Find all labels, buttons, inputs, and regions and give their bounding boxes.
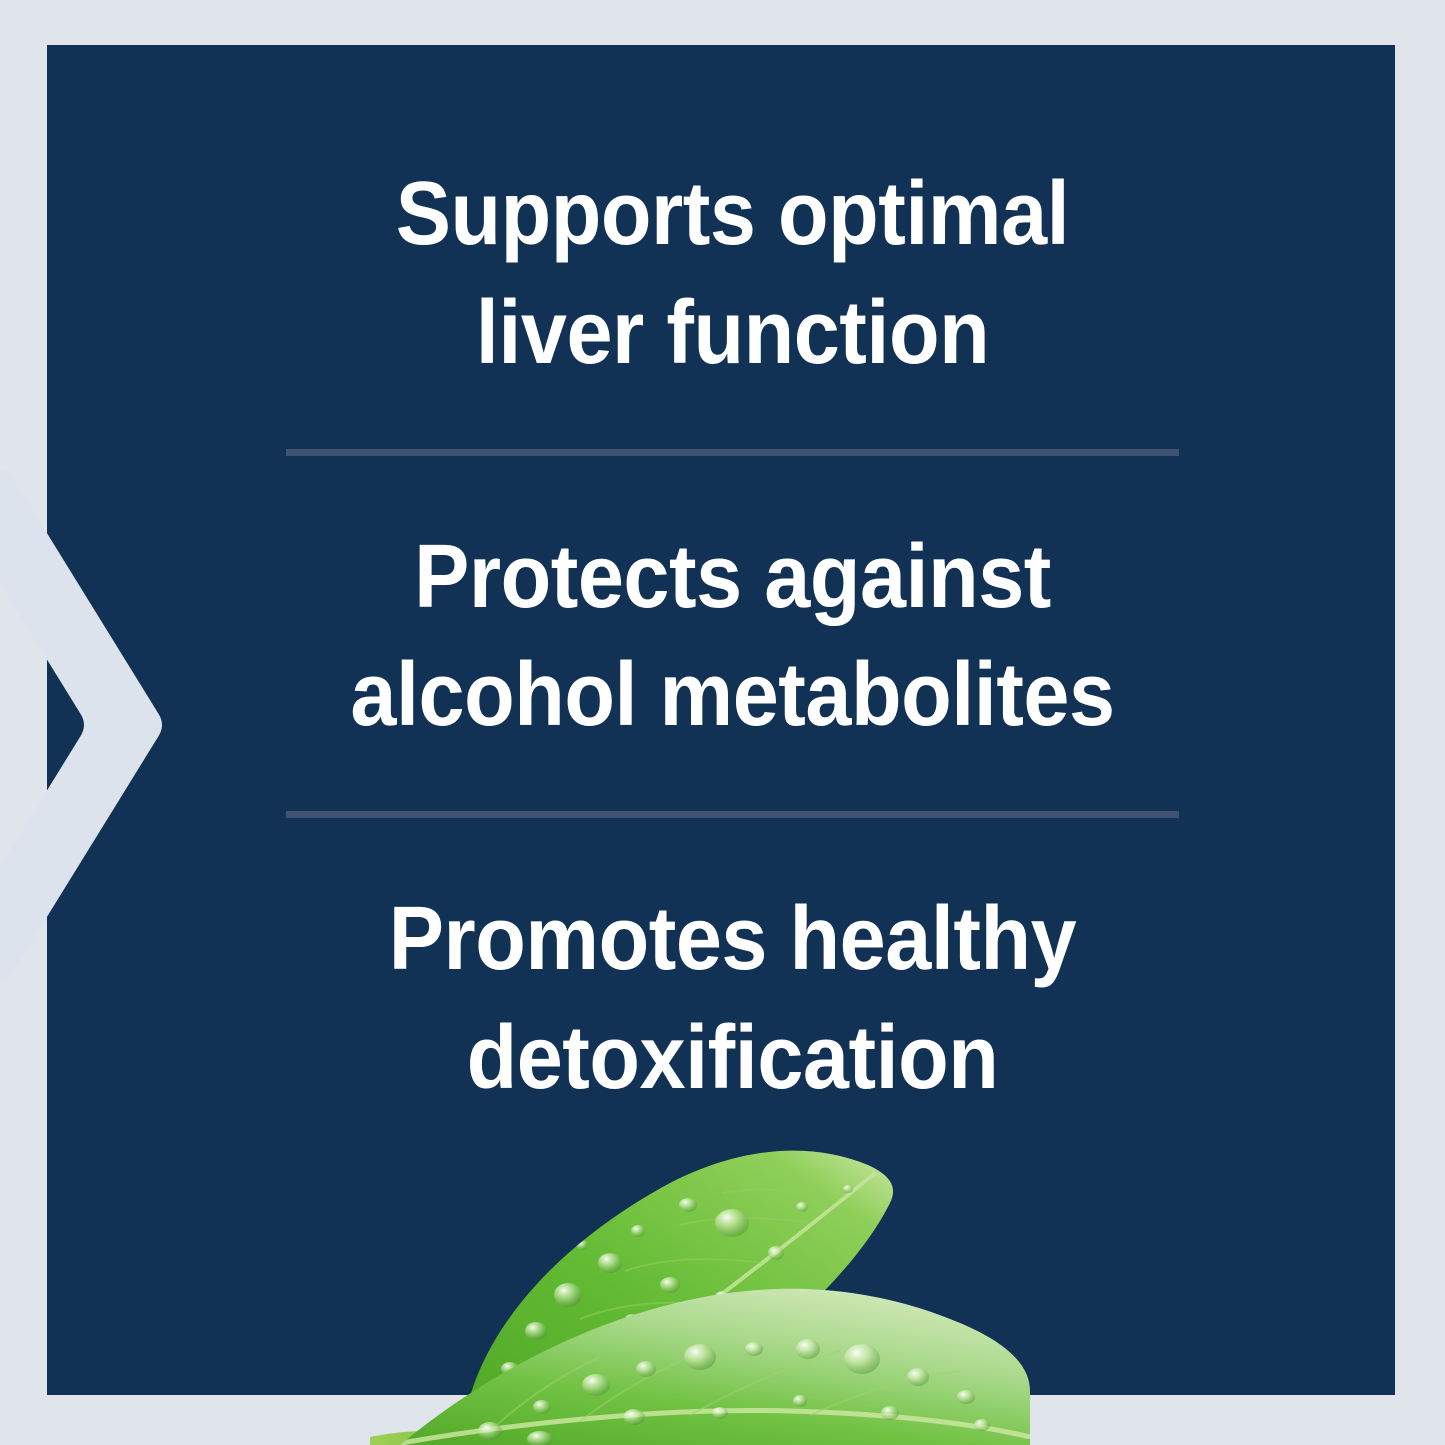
benefit-divider-2 — [286, 811, 1179, 818]
benefit-text-liver-function: Supports optimal liver function — [321, 155, 1144, 393]
poster-canvas: Supports optimal liver function Protects… — [0, 0, 1445, 1445]
benefit-item-alcohol-metabolites: Protects against alcohol metabolites — [285, 518, 1180, 756]
benefit-text-alcohol-metabolites: Protects against alcohol metabolites — [321, 518, 1144, 756]
spacer-1 — [285, 393, 1180, 449]
spacer-3 — [285, 755, 1180, 811]
benefit-item-liver-function: Supports optimal liver function — [285, 155, 1180, 393]
leaf-stem — [370, 1431, 510, 1445]
benefits-card: Supports optimal liver function Protects… — [47, 45, 1395, 1395]
benefit-divider-1 — [286, 449, 1179, 456]
benefits-list: Supports optimal liver function Protects… — [285, 155, 1180, 1118]
spacer-2 — [285, 456, 1180, 518]
benefit-item-detoxification: Promotes healthy detoxification — [285, 880, 1180, 1118]
spacer-4 — [285, 818, 1180, 880]
benefit-text-detoxification: Promotes healthy detoxification — [321, 880, 1144, 1118]
